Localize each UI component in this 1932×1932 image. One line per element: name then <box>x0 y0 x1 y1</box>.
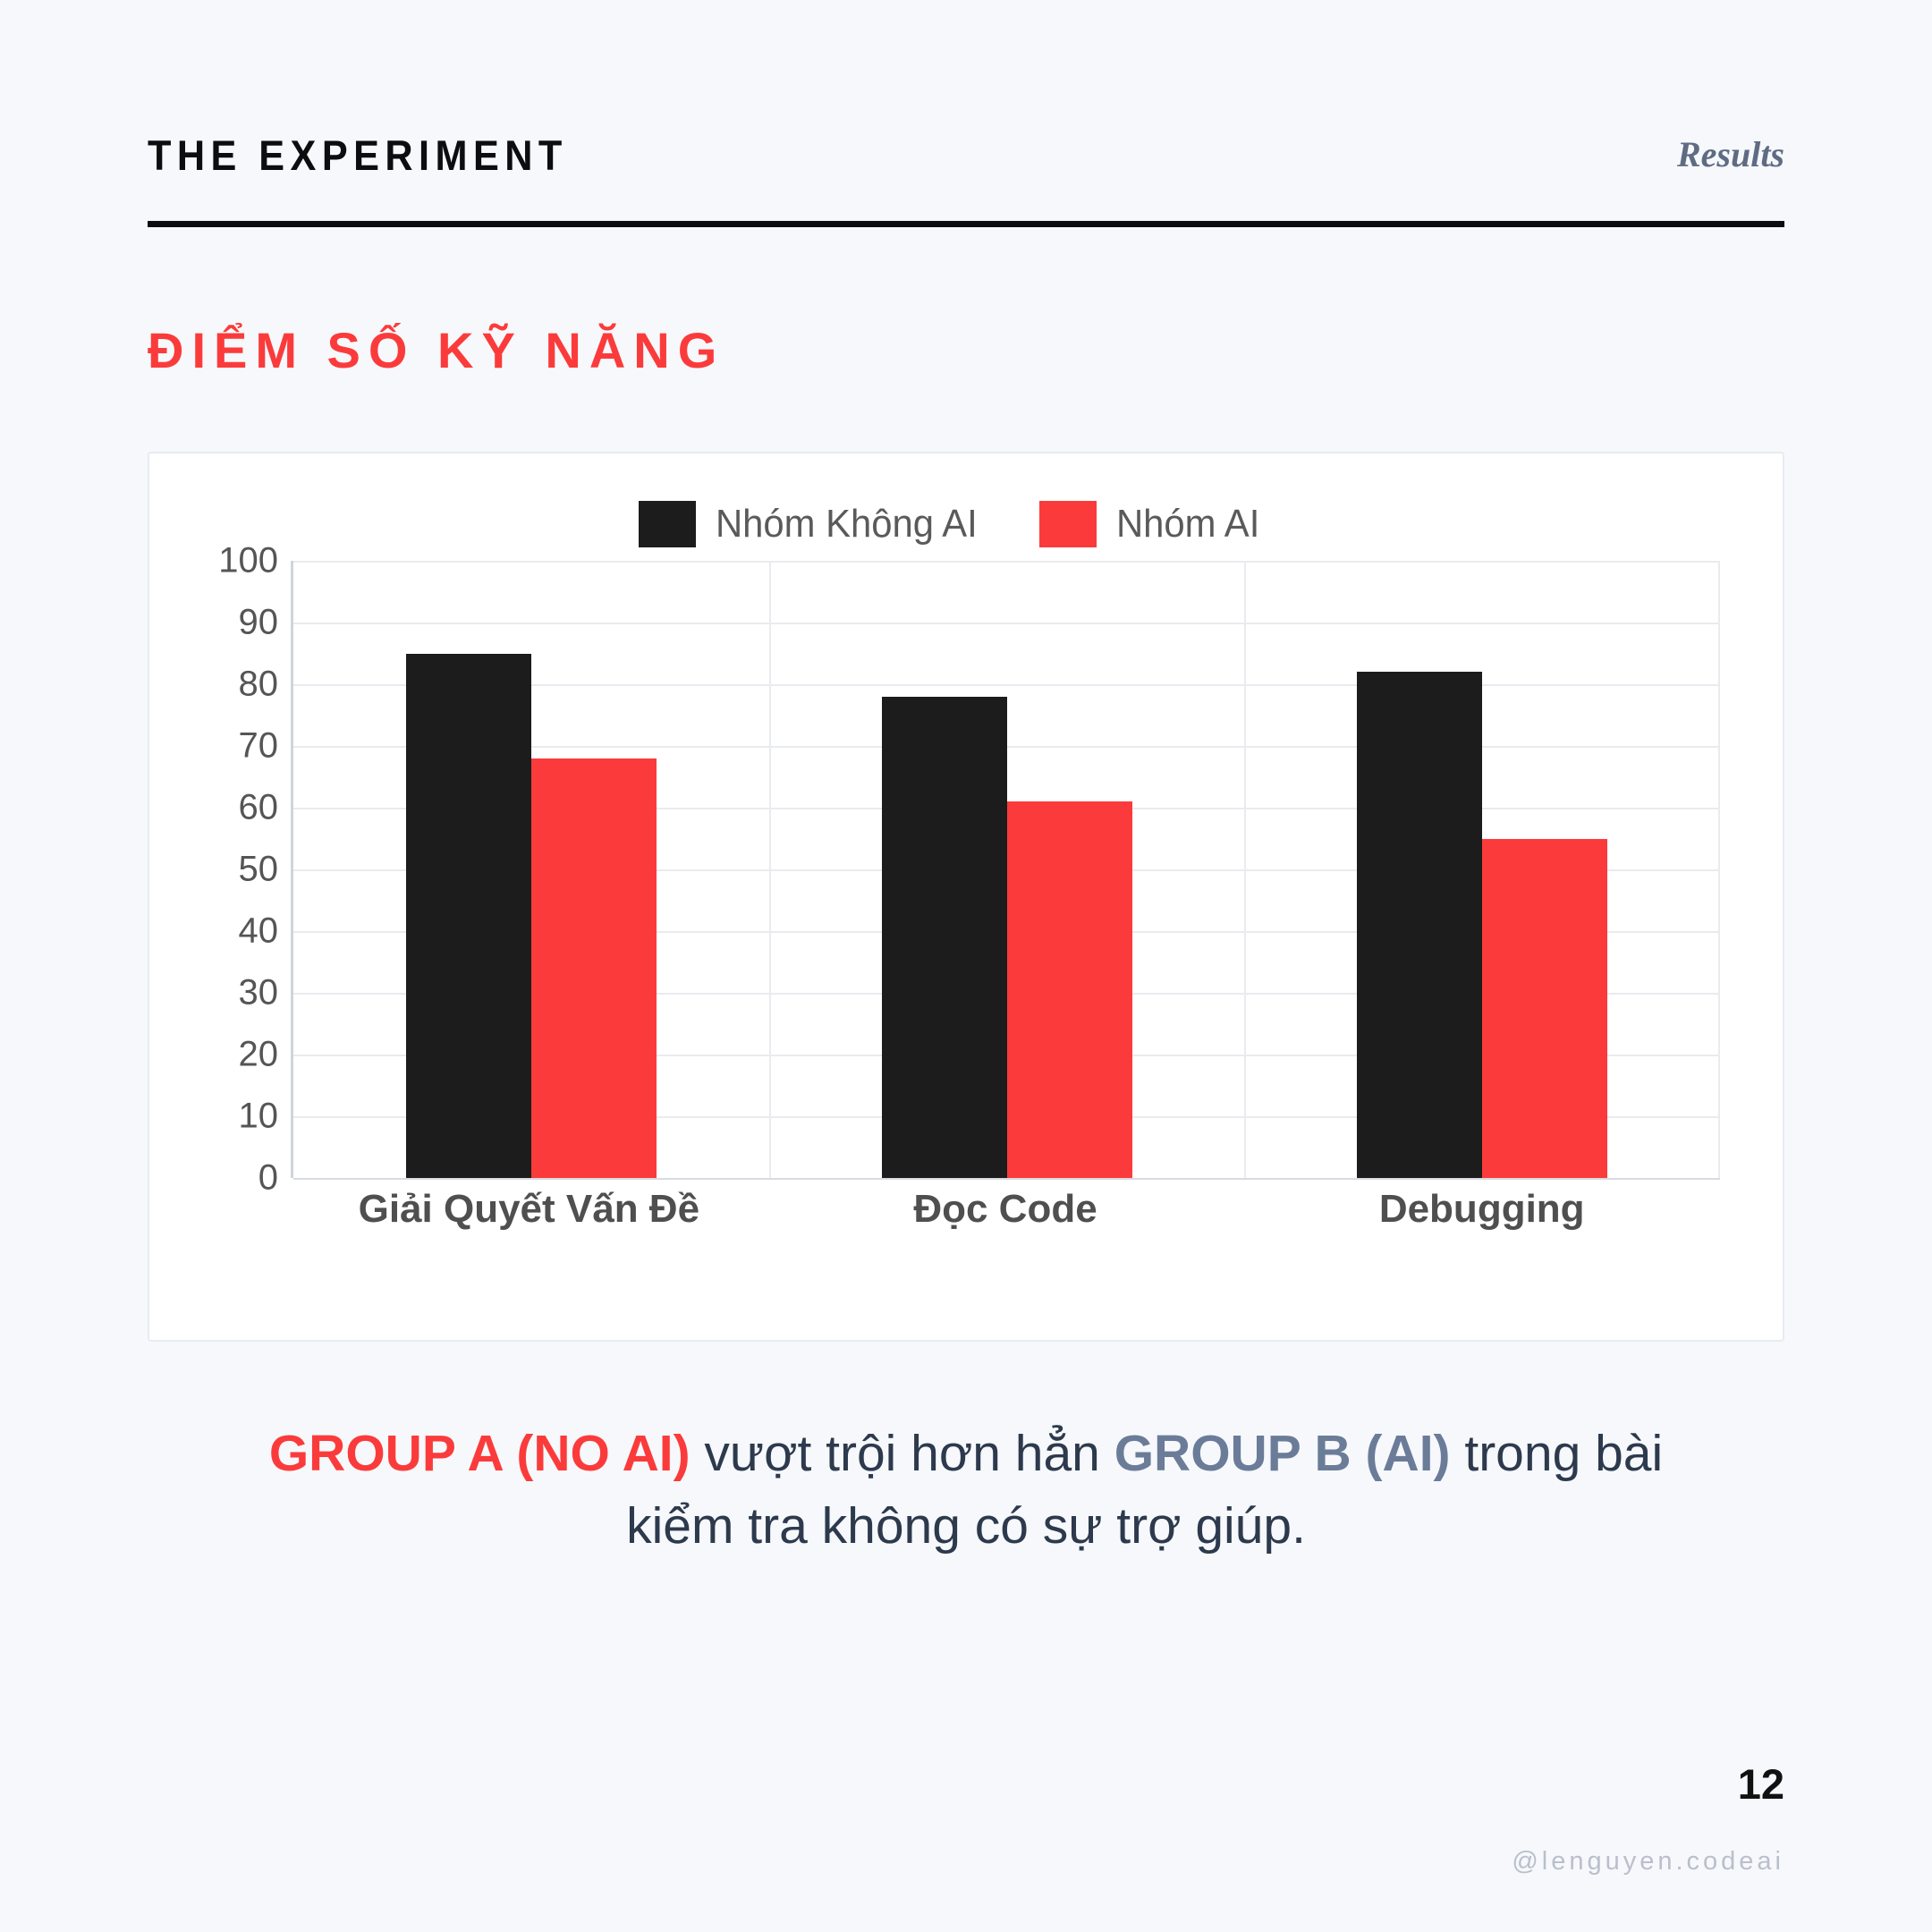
page-number: 12 <box>1738 1759 1784 1809</box>
bar-groups <box>293 561 1720 1178</box>
y-tick-label: 50 <box>239 850 279 890</box>
y-tick-label: 40 <box>239 911 279 952</box>
x-tick-label: Đọc Code <box>767 1187 1244 1232</box>
y-tick-label: 100 <box>218 541 278 581</box>
y-tick-label: 0 <box>258 1158 278 1199</box>
y-tick-label: 60 <box>239 788 279 828</box>
author-handle: @lenguyen.codeai <box>1512 1847 1784 1877</box>
header-divider <box>148 221 1784 227</box>
bar-group-debugging <box>1244 561 1720 1178</box>
page-title: ĐIỂM SỐ KỸ NĂNG <box>148 326 1784 376</box>
x-tick-label: Giải Quyết Vấn Đề <box>291 1187 767 1232</box>
bar-ai-debugging <box>1482 839 1607 1179</box>
bar-no-ai-code-reading <box>882 697 1007 1178</box>
caption-group-b: GROUP B (AI) <box>1114 1425 1451 1482</box>
x-axis: Giải Quyết Vấn Đề Đọc Code Debugging <box>291 1187 1720 1232</box>
legend-swatch-icon-ai <box>1039 501 1097 547</box>
slide: THE EXPERIMENT Results ĐIỂM SỐ KỸ NĂNG N… <box>0 0 1932 1932</box>
bar-ai-problem-solving <box>531 758 657 1178</box>
header-section-label: Results <box>1677 137 1784 176</box>
legend-swatch-icon-no-ai <box>639 501 696 547</box>
y-tick-label: 90 <box>239 603 279 643</box>
y-tick-label: 30 <box>239 973 279 1013</box>
chart-plot-area: 100 90 80 70 60 50 40 30 20 10 0 <box>185 561 1720 1241</box>
slide-caption: GROUP A (NO AI) vượt trội hơn hẳn GROUP … <box>148 1418 1784 1563</box>
chart-card: Nhóm Không AI Nhóm AI 100 90 80 70 60 50… <box>148 452 1784 1342</box>
caption-group-a: GROUP A (NO AI) <box>269 1425 691 1482</box>
legend-label-ai: Nhóm AI <box>1116 502 1259 547</box>
gridline-baseline <box>293 1178 1720 1180</box>
legend-item-ai: Nhóm AI <box>1039 501 1267 547</box>
legend-label-no-ai: Nhóm Không AI <box>716 502 978 547</box>
y-tick-label: 20 <box>239 1035 279 1075</box>
x-tick-label: Debugging <box>1243 1187 1720 1232</box>
bar-group-problem-solving <box>293 561 769 1178</box>
bar-no-ai-debugging <box>1357 672 1482 1178</box>
legend-item-no-ai: Nhóm Không AI <box>639 501 991 547</box>
plot-canvas <box>291 561 1720 1178</box>
y-axis: 100 90 80 70 60 50 40 30 20 10 0 <box>185 561 291 1178</box>
caption-text-1: vượt trội hơn hẳn <box>691 1425 1114 1482</box>
bar-no-ai-problem-solving <box>406 654 531 1179</box>
header-kicker: THE EXPERIMENT <box>148 134 568 176</box>
slide-header: THE EXPERIMENT Results <box>148 0 1784 176</box>
chart-legend: Nhóm Không AI Nhóm AI <box>185 491 1720 557</box>
y-tick-label: 80 <box>239 665 279 705</box>
y-tick-label: 70 <box>239 726 279 767</box>
bar-group-code-reading <box>769 561 1245 1178</box>
y-tick-label: 10 <box>239 1097 279 1137</box>
bar-ai-code-reading <box>1007 801 1132 1178</box>
